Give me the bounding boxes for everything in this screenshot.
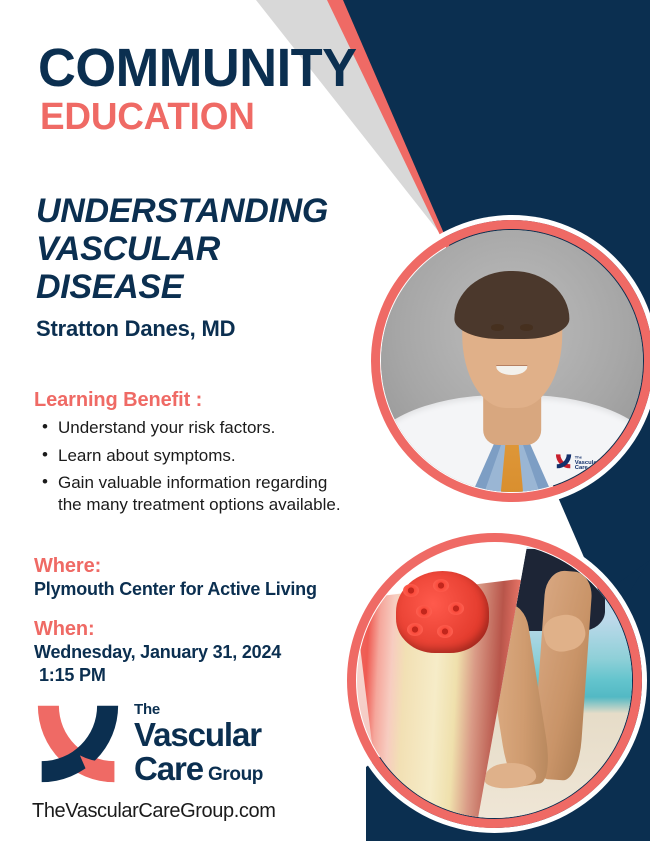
program-title-line-1: UNDERSTANDING xyxy=(36,192,406,230)
program-title-line-3: DISEASE xyxy=(36,268,406,306)
website-url[interactable]: TheVascularCareGroup.com xyxy=(32,800,275,823)
where-value: Plymouth Center for Active Living xyxy=(34,579,364,601)
program-title-block: UNDERSTANDING VASCULAR DISEASE Stratton … xyxy=(36,192,406,342)
headline-secondary: EDUCATION xyxy=(40,98,357,136)
logo-the: The xyxy=(134,702,263,717)
headline-block: COMMUNITY EDUCATION xyxy=(38,44,366,136)
logo-care-line: CareGroup xyxy=(134,752,263,785)
condition-illustration-ring xyxy=(347,533,642,828)
learning-benefit-block: Learning Benefit : Understand your risk … xyxy=(34,389,344,521)
learning-benefit-list: Understand your risk factors. Learn abou… xyxy=(34,417,344,515)
headline-primary: COMMUNITY xyxy=(38,44,357,94)
vascular-care-group-logo: The Vascular CareGroup xyxy=(30,700,263,786)
when-time-value: 1:15 PM xyxy=(34,665,364,687)
where-group: Where: Plymouth Center for Active Living xyxy=(34,555,364,601)
event-details-block: Where: Plymouth Center for Active Living… xyxy=(34,555,364,687)
learning-benefit-heading: Learning Benefit : xyxy=(34,389,344,412)
when-label: When: xyxy=(34,618,364,641)
speaker-name: Stratton Danes, MD xyxy=(36,316,406,342)
list-item: Understand your risk factors. xyxy=(58,417,344,439)
logo-care: Care xyxy=(134,750,203,787)
vascular-care-group-v-mark xyxy=(30,700,126,786)
program-title-line-2: VASCULAR xyxy=(36,230,406,268)
flyer-page: COMMUNITY EDUCATION UNDERSTANDING VASCUL… xyxy=(0,0,650,841)
logo-wordmark: The Vascular CareGroup xyxy=(134,702,263,785)
logo-group: Group xyxy=(208,764,263,785)
when-group: When: Wednesday, January 31, 2024 1:15 P… xyxy=(34,618,364,687)
logo-vascular: Vascular xyxy=(134,718,263,751)
list-item: Learn about symptoms. xyxy=(58,445,344,467)
where-label: Where: xyxy=(34,555,364,578)
list-item: Gain valuable information regarding the … xyxy=(58,472,344,515)
when-date-value: Wednesday, January 31, 2024 xyxy=(34,642,364,664)
speaker-portrait-ring xyxy=(371,220,650,502)
